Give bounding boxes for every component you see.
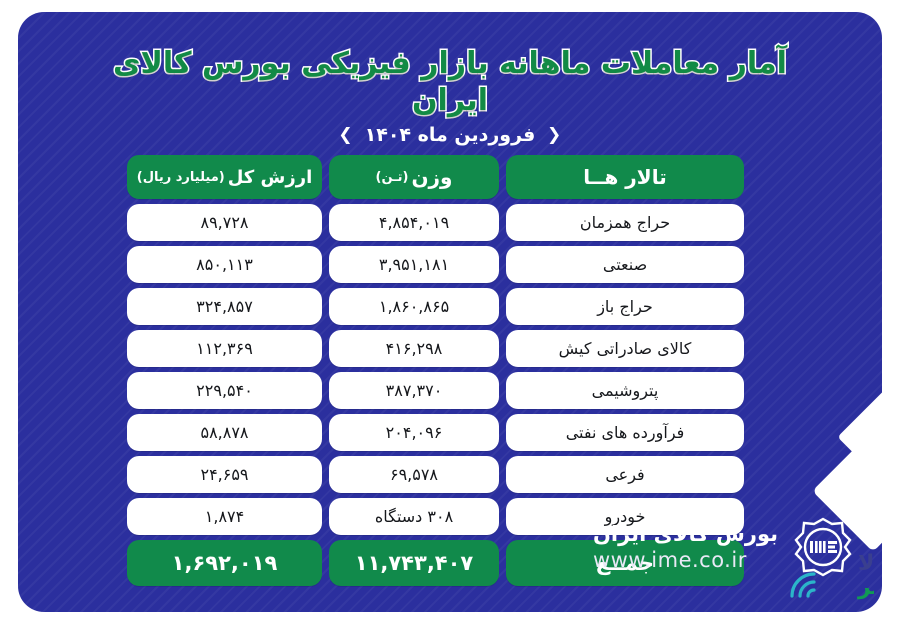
cell-weight: ۳۰۸ دستگاه [329,498,499,535]
cell-value: ۵۸,۸۷۸ [127,414,322,451]
column-header-hall-label: تالار هــا [583,165,666,189]
cell-weight: ۳۸۷,۳۷۰ [329,372,499,409]
chevron-left-icon: ❯ [547,127,561,144]
cell-value: ۲۲۹,۵۴۰ [127,372,322,409]
cell-weight: ۴,۸۵۴,۰۱۹ [329,204,499,241]
total-weight: ۱۱,۷۴۳,۴۰۷ [329,540,499,586]
cell-weight: ۲۰۴,۰۹۶ [329,414,499,451]
cell-value: ۱,۸۷۴ [127,498,322,535]
column-header-weight: وزن (تـن) [329,155,499,199]
svg-text:کالا: کالا [858,551,874,576]
table-row: کالای صادراتی کیش ۴۱۶,۲۹۸ ۱۱۲,۳۶۹ [134,330,744,367]
cell-value: ۲۴,۶۵۹ [127,456,322,493]
subtitle-row: ❯ فروردین ماه ۱۴۰۴ ❯ [18,124,882,146]
column-header-hall: تالار هــا [506,155,744,199]
table-row: حراج باز ۱,۸۶۰,۸۶۵ ۳۲۴,۸۵۷ [134,288,744,325]
brand-website: www.ime.co.ir [593,548,747,572]
cell-value: ۱۱۲,۳۶۹ [127,330,322,367]
kalakhabar-watermark-icon: کالا خبر [778,526,874,606]
brand-text-block: بورس کالای ایران www.ime.co.ir [593,522,778,572]
cell-value: ۸۹,۷۲۸ [127,204,322,241]
cell-weight: ۳,۹۵۱,۱۸۱ [329,246,499,283]
cell-value: ۸۵۰,۱۱۳ [127,246,322,283]
cell-weight: ۴۱۶,۲۹۸ [329,330,499,367]
table-row: پتروشیمی ۳۸۷,۳۷۰ ۲۲۹,۵۴۰ [134,372,744,409]
table-row: حراج همزمان ۴,۸۵۴,۰۱۹ ۸۹,۷۲۸ [134,204,744,241]
cell-hall: حراج همزمان [506,204,744,241]
total-value: ۱,۶۹۲,۰۱۹ [127,540,322,586]
table-row: صنعتی ۳,۹۵۱,۱۸۱ ۸۵۰,۱۱۳ [134,246,744,283]
cell-hall: کالای صادراتی کیش [506,330,744,367]
column-header-value: ارزش کل (میلیارد ریال) [127,155,322,199]
cell-hall: پتروشیمی [506,372,744,409]
subtitle-period: فروردین ماه ۱۴۰۴ [365,124,536,146]
table-header-row: تالار هــا وزن (تـن) ارزش کل (میلیارد ری… [134,155,744,199]
brand-name: بورس کالای ایران [593,522,778,546]
cell-weight: ۶۹,۵۷۸ [329,456,499,493]
column-header-value-unit: (میلیارد ریال) [137,170,225,185]
cell-value: ۳۲۴,۸۵۷ [127,288,322,325]
chevron-right-icon: ❯ [338,127,352,144]
cell-hall: فرعی [506,456,744,493]
column-header-weight-unit: (تـن) [376,170,409,185]
cell-hall: صنعتی [506,246,744,283]
page-title: آمار معاملات ماهانه بازار فیزیکی بورس کا… [18,46,882,119]
poster-canvas: آمار معاملات ماهانه بازار فیزیکی بورس کا… [0,0,900,630]
table-row: فرعی ۶۹,۵۷۸ ۲۴,۶۵۹ [134,456,744,493]
table-row: فرآورده های نفتی ۲۰۴,۰۹۶ ۵۸,۸۷۸ [134,414,744,451]
cell-weight: ۱,۸۶۰,۸۶۵ [329,288,499,325]
column-header-weight-label: وزن [411,165,452,189]
cell-hall: فرآورده های نفتی [506,414,744,451]
svg-text:خبر: خبر [857,575,874,600]
poster-card: آمار معاملات ماهانه بازار فیزیکی بورس کا… [18,12,882,612]
cell-hall: حراج باز [506,288,744,325]
column-header-value-label: ارزش کل [228,167,313,188]
